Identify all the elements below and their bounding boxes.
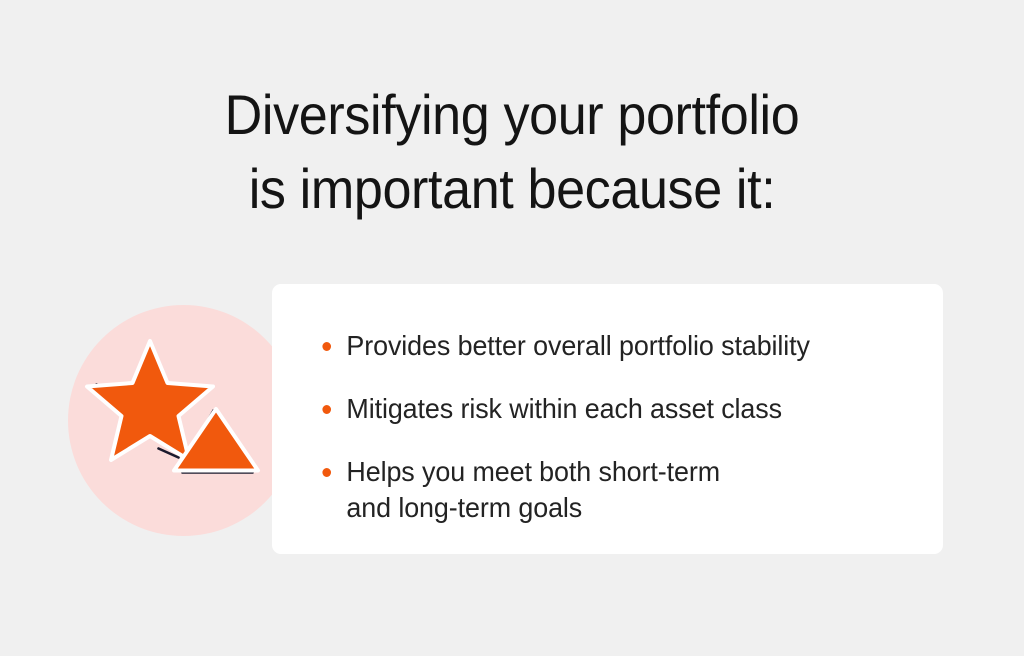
list-item-label: Helps you meet both short-term and long-… <box>346 454 908 526</box>
triangle-icon <box>174 409 258 471</box>
list-item-label-line-1: Helps you meet both short-term <box>346 454 908 490</box>
benefits-card: Provides better overall portfolio stabil… <box>272 284 943 554</box>
list-item-label: Provides better overall portfolio stabil… <box>346 328 908 364</box>
list-item: Provides better overall portfolio stabil… <box>332 328 908 364</box>
bullet-dot-icon <box>322 468 331 477</box>
list-item: Mitigates risk within each asset class <box>332 391 908 427</box>
shapes-graphic <box>68 305 299 536</box>
page-title: Diversifying your portfolio is important… <box>36 78 988 226</box>
benefits-list: Provides better overall portfolio stabil… <box>332 328 932 526</box>
illustration <box>68 305 299 536</box>
page-title-line-1: Diversifying your portfolio <box>36 78 988 152</box>
list-item-label-line-2: and long-term goals <box>346 490 908 526</box>
infographic-canvas: Diversifying your portfolio is important… <box>0 0 1024 656</box>
page-title-line-2: is important because it: <box>36 152 988 226</box>
bullet-dot-icon <box>322 342 331 351</box>
list-item-label: Mitigates risk within each asset class <box>346 391 908 427</box>
bullet-dot-icon <box>322 405 331 414</box>
list-item: Helps you meet both short-term and long-… <box>332 454 908 526</box>
